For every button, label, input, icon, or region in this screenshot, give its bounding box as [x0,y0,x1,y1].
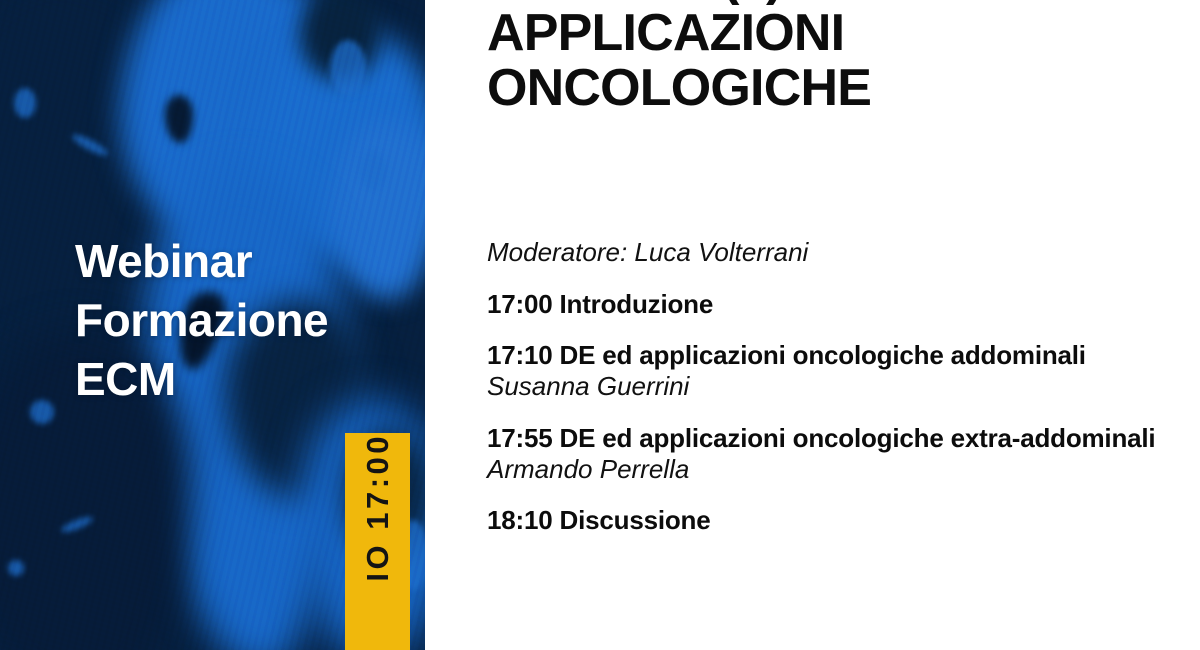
program-slot: 17:00 Introduzione [487,290,1177,319]
program-slot-title: 17:00 Introduzione [487,290,1177,319]
moderator-line: Moderatore: Luca Volterrani [487,237,1177,268]
program-slot: 17:55 DE ed applicazioni oncologiche ext… [487,424,1177,484]
webinar-heading-line-3: ECM [75,350,405,409]
webinar-poster: Webinar Formazione ECM IO 17:00 ANCORA (… [0,0,1200,650]
program-list: Moderatore: Luca Volterrani 17:00 Introd… [487,237,1177,557]
program-slot-title: 18:10 Discussione [487,506,1177,535]
date-time-bar: IO 17:00 [345,433,410,650]
page-title: ANCORA (II): APPLICAZIONI ONCOLOGICHE [487,0,1187,117]
program-slot-title: 17:10 DE ed applicazioni oncologiche add… [487,341,1177,370]
program-slot-speaker: Armando Perrella [487,454,1177,484]
right-content-panel: ANCORA (II): APPLICAZIONI ONCOLOGICHE Mo… [425,0,1200,650]
date-time-label: IO 17:00 [360,433,396,582]
webinar-heading-line-1: Webinar [75,232,405,291]
program-slot-speaker: Susanna Guerrini [487,371,1177,401]
program-slot-title: 17:55 DE ed applicazioni oncologiche ext… [487,424,1177,453]
program-slot: 17:10 DE ed applicazioni oncologiche add… [487,341,1177,401]
page-title-line-3: ONCOLOGICHE [487,61,1187,117]
program-slot: 18:10 Discussione [487,506,1177,535]
webinar-heading: Webinar Formazione ECM [75,232,405,409]
page-title-line-2: APPLICAZIONI [487,6,1187,62]
date-time-bar-rotated-wrapper: IO 17:00 [345,433,410,650]
webinar-heading-line-2: Formazione [75,291,405,350]
